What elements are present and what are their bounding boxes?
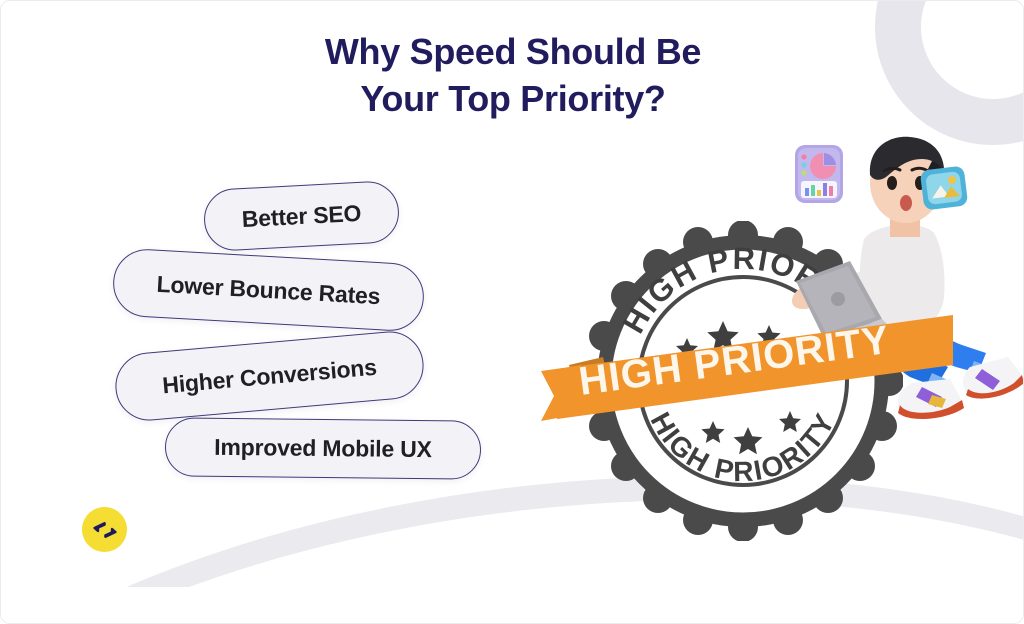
page-title: Why Speed Should Be Your Top Priority?: [1, 29, 1024, 123]
benefit-pill-higher-conversions[interactable]: Higher Conversions: [113, 329, 427, 424]
slide-canvas: Why Speed Should Be Your Top Priority? B…: [0, 0, 1024, 624]
ribbon-notch-left: [557, 365, 581, 419]
page-title-line-1: Why Speed Should Be: [1, 29, 1024, 76]
brand-mark-icon: [90, 515, 120, 545]
benefit-pill-better-seo[interactable]: Better SEO: [203, 180, 401, 252]
shoe-front: [898, 379, 964, 419]
brand-logo[interactable]: [82, 507, 127, 552]
decorative-arc-mask: [1, 587, 1024, 623]
benefit-pill-label: Improved Mobile UX: [214, 434, 432, 463]
benefit-pill-improved-mobile-ux[interactable]: Improved Mobile UX: [165, 417, 482, 479]
analytics-chart-card-icon: [793, 143, 845, 205]
benefit-pill-lower-bounce-rates[interactable]: Lower Bounce Rates: [111, 247, 425, 332]
benefit-pill-label: Lower Bounce Rates: [156, 270, 381, 309]
eye-left: [887, 176, 897, 190]
benefit-pill-label: Better SEO: [241, 199, 362, 232]
benefit-pill-label: Higher Conversions: [161, 353, 377, 399]
mouth: [900, 195, 912, 211]
hero-illustration: HIGH PRIORITY HIGH PRIORITY: [521, 111, 1021, 521]
image-placeholder-card-icon: [919, 163, 969, 213]
ribbon-tail-left: [541, 368, 563, 421]
